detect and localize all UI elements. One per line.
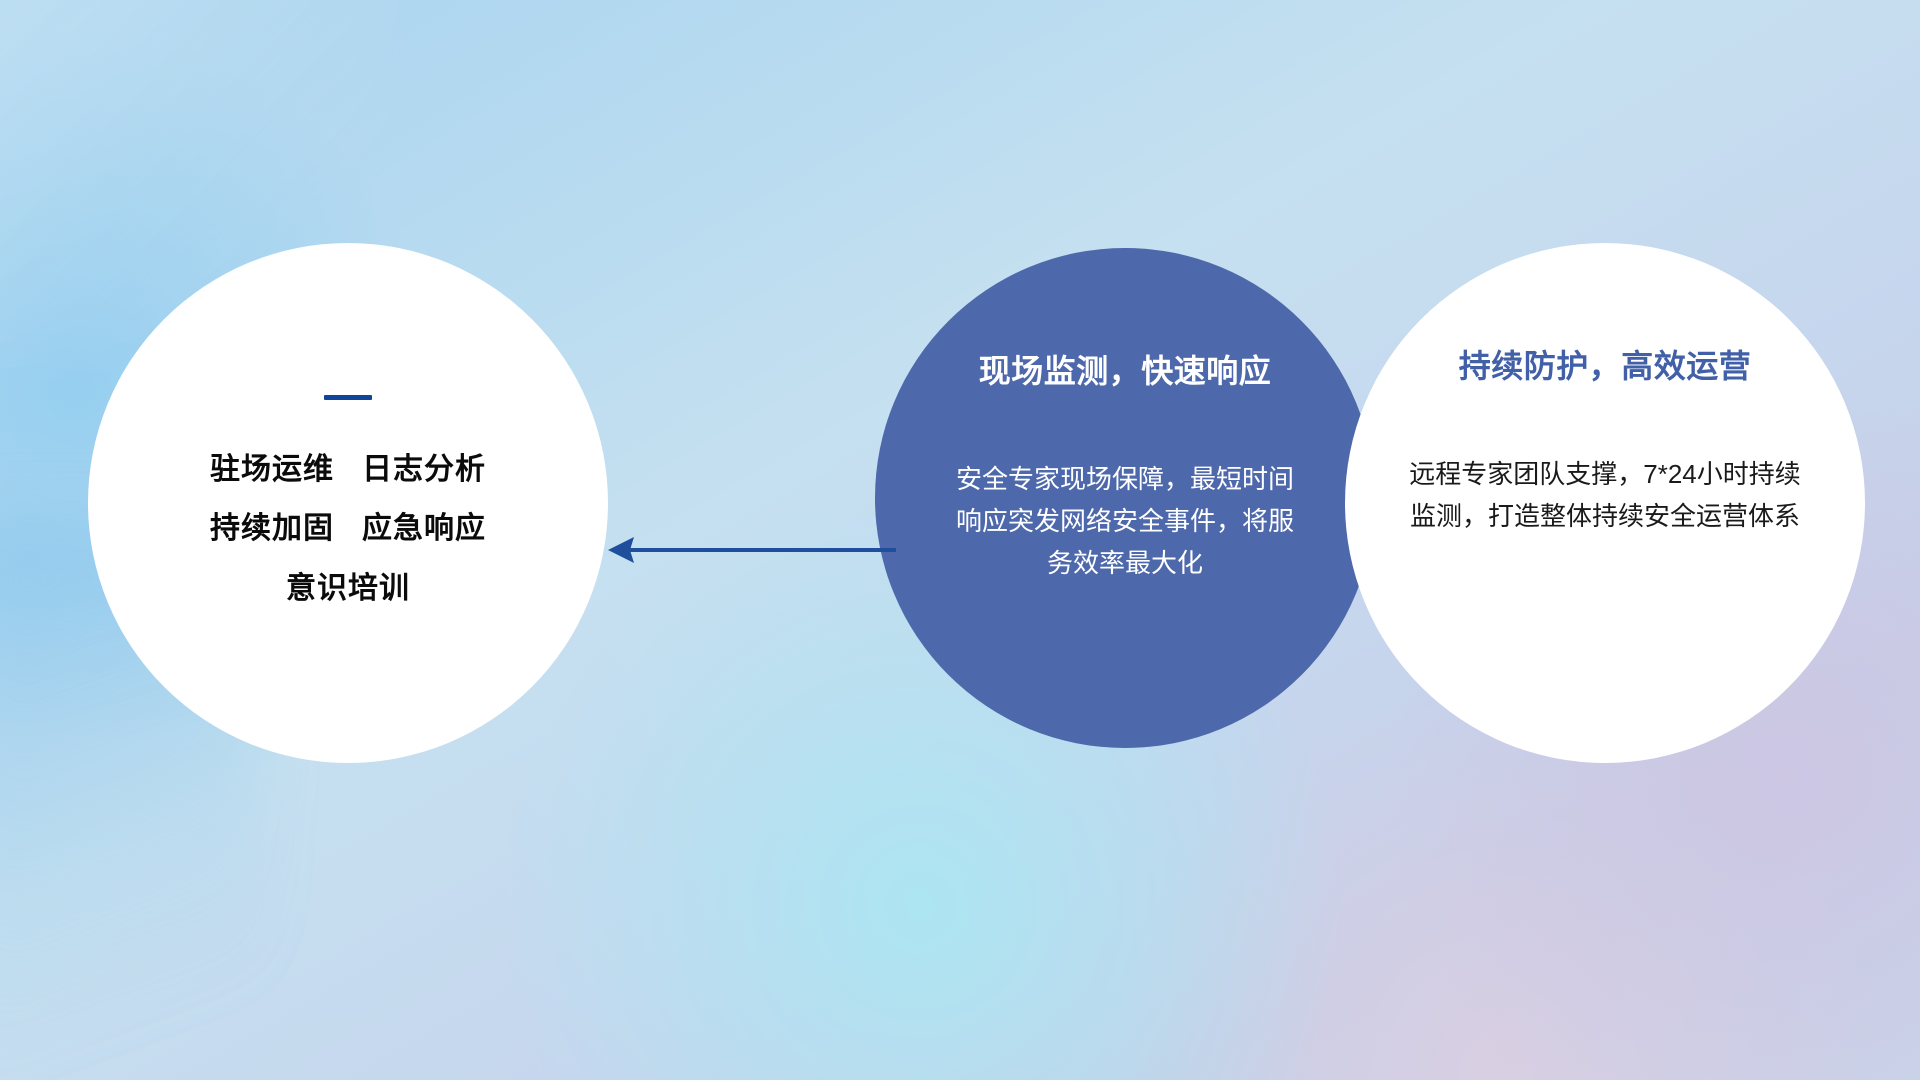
onsite-monitoring-body: 安全专家现场保障，最短时间响应突发网络安全事件，将服务效率最大化 [955, 458, 1295, 584]
onsite-monitoring-circle[interactable]: 现场监测，快速响应 安全专家现场保障，最短时间响应突发网络安全事件，将服务效率最… [875, 248, 1375, 748]
divider-dash-icon [324, 395, 372, 400]
continuous-protection-circle[interactable]: 持续防护，高效运营 远程专家团队支撑，7*24小时持续监测，打造整体持续安全运营… [1345, 243, 1865, 763]
slide-canvas: 驻场运维 日志分析 持续加固 应急响应 意识培训 现场监测，快速响应 安全专家现… [0, 0, 1920, 1080]
services-list: 驻场运维 日志分析 持续加固 应急响应 意识培训 [210, 440, 486, 618]
onsite-monitoring-title: 现场监测，快速响应 [979, 346, 1272, 392]
services-circle[interactable]: 驻场运维 日志分析 持续加固 应急响应 意识培训 [88, 243, 608, 763]
left-arrow-icon [600, 515, 900, 585]
service-line: 驻场运维 日志分析 [210, 440, 486, 499]
service-line: 意识培训 [210, 559, 486, 618]
service-line: 持续加固 应急响应 [210, 499, 486, 558]
continuous-protection-body: 远程专家团队支撑，7*24小时持续监测，打造整体持续安全运营体系 [1405, 453, 1805, 537]
continuous-protection-title: 持续防护，高效运营 [1459, 341, 1752, 387]
